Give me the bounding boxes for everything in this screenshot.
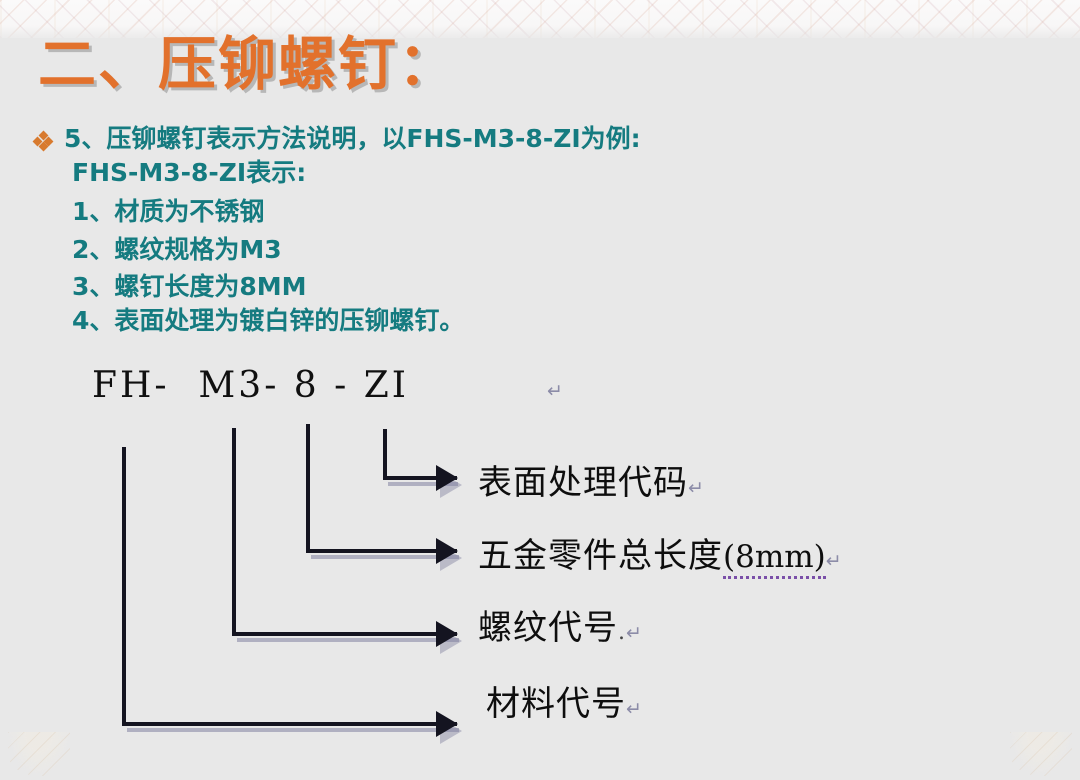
leader-arrow-thread: [436, 621, 458, 647]
part-number-code: FH- M3- 8 - ZI: [92, 365, 409, 406]
label-surface-treatment-code: 表面处理代码↵: [478, 455, 704, 504]
leader-arrow-length: [436, 538, 458, 564]
pilcrow-icon-thread: ↵: [626, 622, 642, 644]
label-material-code-text: 材料代号: [486, 684, 626, 724]
leader-line-thread-vertical: [232, 428, 236, 632]
leader-line-material-horizontal: [122, 722, 457, 726]
pilcrow-icon-surface: ↵: [688, 477, 704, 499]
page-title: 二、压铆螺钉：: [38, 34, 458, 95]
slide-canvas: 二、压铆螺钉： 5、压铆螺钉表示方法说明，以FHS-M3-8-ZI为例: FHS…: [0, 0, 1080, 780]
label-total-length-text: 五金零件总长度: [478, 536, 723, 576]
pilcrow-icon-length: ↵: [826, 550, 842, 572]
label-surface-treatment-text: 表面处理代码: [478, 463, 688, 503]
sub-line-3: 3、螺钉长度为8MM: [72, 274, 307, 299]
leader-line-thread-shadow: [237, 638, 459, 642]
leader-line-material-shadow: [127, 728, 459, 732]
label-thread-code-trailing: .: [618, 620, 626, 645]
leader-arrow-surface: [436, 465, 458, 491]
sub-line-2: 2、螺纹规格为M3: [72, 237, 282, 262]
main-bullet-text: 5、压铆螺钉表示方法说明，以FHS-M3-8-ZI为例:: [64, 126, 641, 151]
leader-line-surface-vertical: [383, 429, 387, 479]
sub-line-4: 4、表面处理为镀白锌的压铆螺钉。: [72, 308, 464, 333]
label-thread-code: 螺纹代号.↵: [478, 600, 642, 649]
leader-line-material-vertical: [122, 447, 126, 722]
sub-line-0: FHS-M3-8-ZI表示:: [72, 160, 306, 185]
sub-line-1: 1、材质为不锈钢: [72, 199, 264, 224]
label-total-length: 五金零件总长度(8mm)↵: [478, 528, 842, 577]
label-total-length-value: (8mm): [723, 539, 826, 579]
pilcrow-icon-code: ↵: [547, 380, 563, 402]
main-bullet-row: 5、压铆螺钉表示方法说明，以FHS-M3-8-ZI为例:: [34, 126, 641, 151]
label-material-code: 材料代号↵: [486, 676, 642, 725]
pilcrow-icon-material: ↵: [626, 698, 642, 720]
leader-line-length-vertical: [306, 424, 310, 549]
leader-line-length-horizontal: [306, 549, 457, 553]
leader-line-thread-horizontal: [232, 632, 457, 636]
diamond-bullet-icon: [34, 132, 52, 150]
leader-arrow-material: [436, 711, 458, 737]
label-thread-code-text: 螺纹代号: [478, 608, 618, 648]
